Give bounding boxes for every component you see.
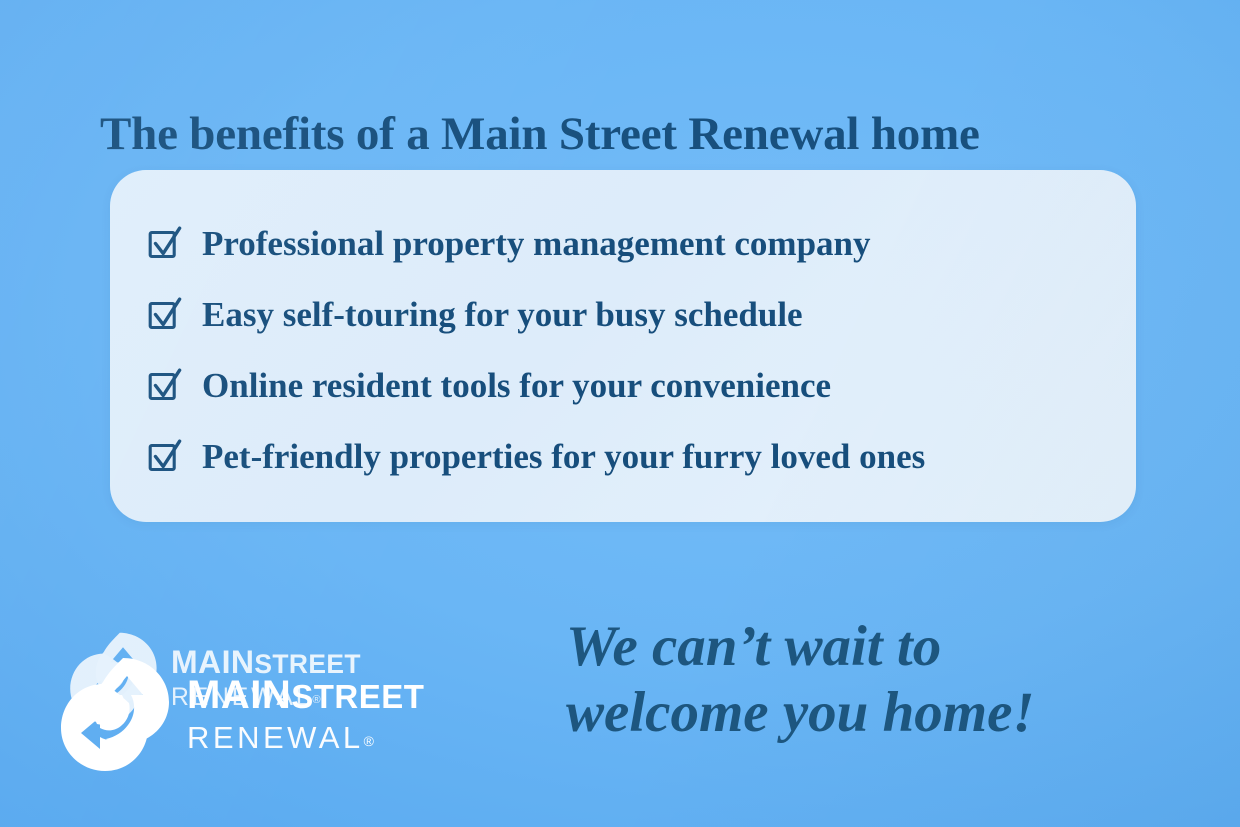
brand-wordmark-renewal: RENEWAL: [187, 720, 364, 755]
list-item-label: Professional property management company: [202, 225, 871, 263]
brand-wordmark-main: MAIN: [187, 673, 291, 717]
list-item: Professional property management company: [148, 208, 1114, 279]
list-item: Online resident tools for your convenien…: [148, 350, 1114, 421]
list-item: Easy self-touring for your busy schedule: [148, 279, 1114, 350]
page-title: The benefits of a Main Street Renewal ho…: [100, 105, 1160, 163]
brand-wordmark-sub: STREET: [291, 678, 424, 715]
checkbox-checked-icon: [148, 437, 182, 475]
registered-trademark-mark: ®: [364, 733, 374, 749]
checkbox-checked-icon: [148, 366, 182, 404]
tagline-line-2: welcome you home!: [566, 680, 1166, 746]
mainstreet-renewal-swirl-icon: [57, 652, 175, 776]
list-item-label: Online resident tools for your convenien…: [202, 367, 831, 405]
brand-logo: MAINSTREET RENEWAL® MAINSTREET: [57, 628, 487, 788]
tagline: We can’t wait to welcome you home!: [566, 614, 1166, 746]
brand-wordmark-line-2: RENEWAL®: [187, 722, 424, 753]
brand-logo-primary-copy: MAINSTREET RENEWAL®: [57, 652, 424, 776]
brand-wordmark: MAINSTREET RENEWAL®: [187, 675, 424, 753]
benefits-card: Professional property management company…: [110, 170, 1136, 522]
list-item: Pet-friendly properties for your furry l…: [148, 421, 1114, 492]
list-item-label: Easy self-touring for your busy schedule: [202, 296, 803, 334]
checkbox-checked-icon: [148, 224, 182, 262]
list-item-label: Pet-friendly properties for your furry l…: [202, 438, 925, 476]
benefits-list: Professional property management company…: [148, 208, 1114, 492]
promotional-poster: The benefits of a Main Street Renewal ho…: [0, 0, 1240, 827]
brand-wordmark-line-1: MAINSTREET: [187, 675, 424, 715]
checkbox-checked-icon: [148, 295, 182, 333]
tagline-line-1: We can’t wait to: [566, 614, 1166, 680]
